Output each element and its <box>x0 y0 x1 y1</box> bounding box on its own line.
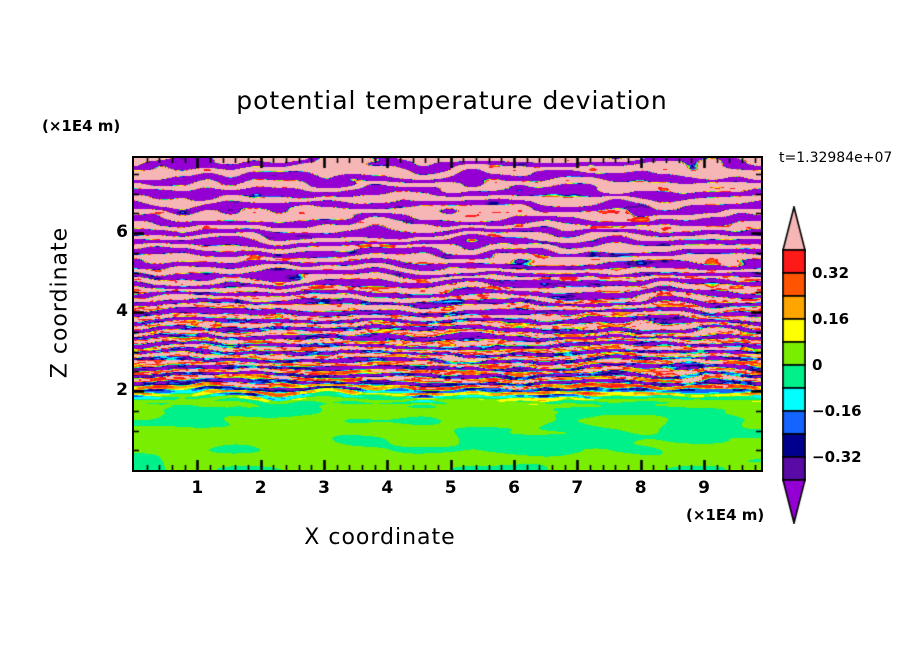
x-tick-label-5: 5 <box>431 478 471 498</box>
contour-field <box>134 158 761 470</box>
x-tick-label-1: 1 <box>177 478 217 498</box>
x-axis-title: X coordinate <box>0 525 760 550</box>
x-tick-label-6: 6 <box>494 478 534 498</box>
colorbar <box>782 206 806 524</box>
z-axis-units-label: (×1E4 m) <box>42 117 120 135</box>
simulation-time-annotation: t=1.32984e+07 <box>779 150 892 166</box>
colorbar-tick-label-4: −0.32 <box>812 448 862 466</box>
x-tick-label-8: 8 <box>621 478 661 498</box>
page-title: potential temperature deviation <box>0 86 904 115</box>
colorbar-tick-label-1: 0.16 <box>812 310 849 328</box>
x-tick-label-7: 7 <box>557 478 597 498</box>
colorbar-tick-label-2: 0 <box>812 356 822 374</box>
y-tick-label-6: 6 <box>88 222 128 242</box>
colorbar-tick-label-0: 0.32 <box>812 264 849 282</box>
colorbar-tick-label-3: −0.16 <box>812 402 862 420</box>
x-tick-label-2: 2 <box>241 478 281 498</box>
figure-canvas: potential temperature deviation (×1E4 m)… <box>0 0 904 654</box>
x-axis-units-label: (×1E4 m) <box>686 506 764 524</box>
x-tick-label-4: 4 <box>367 478 407 498</box>
y-tick-label-2: 2 <box>88 380 128 400</box>
x-tick-label-9: 9 <box>684 478 724 498</box>
y-axis-title: Z coordinate <box>48 203 73 403</box>
y-tick-label-4: 4 <box>88 301 128 321</box>
contour-plot-area <box>132 156 763 472</box>
x-tick-label-3: 3 <box>304 478 344 498</box>
